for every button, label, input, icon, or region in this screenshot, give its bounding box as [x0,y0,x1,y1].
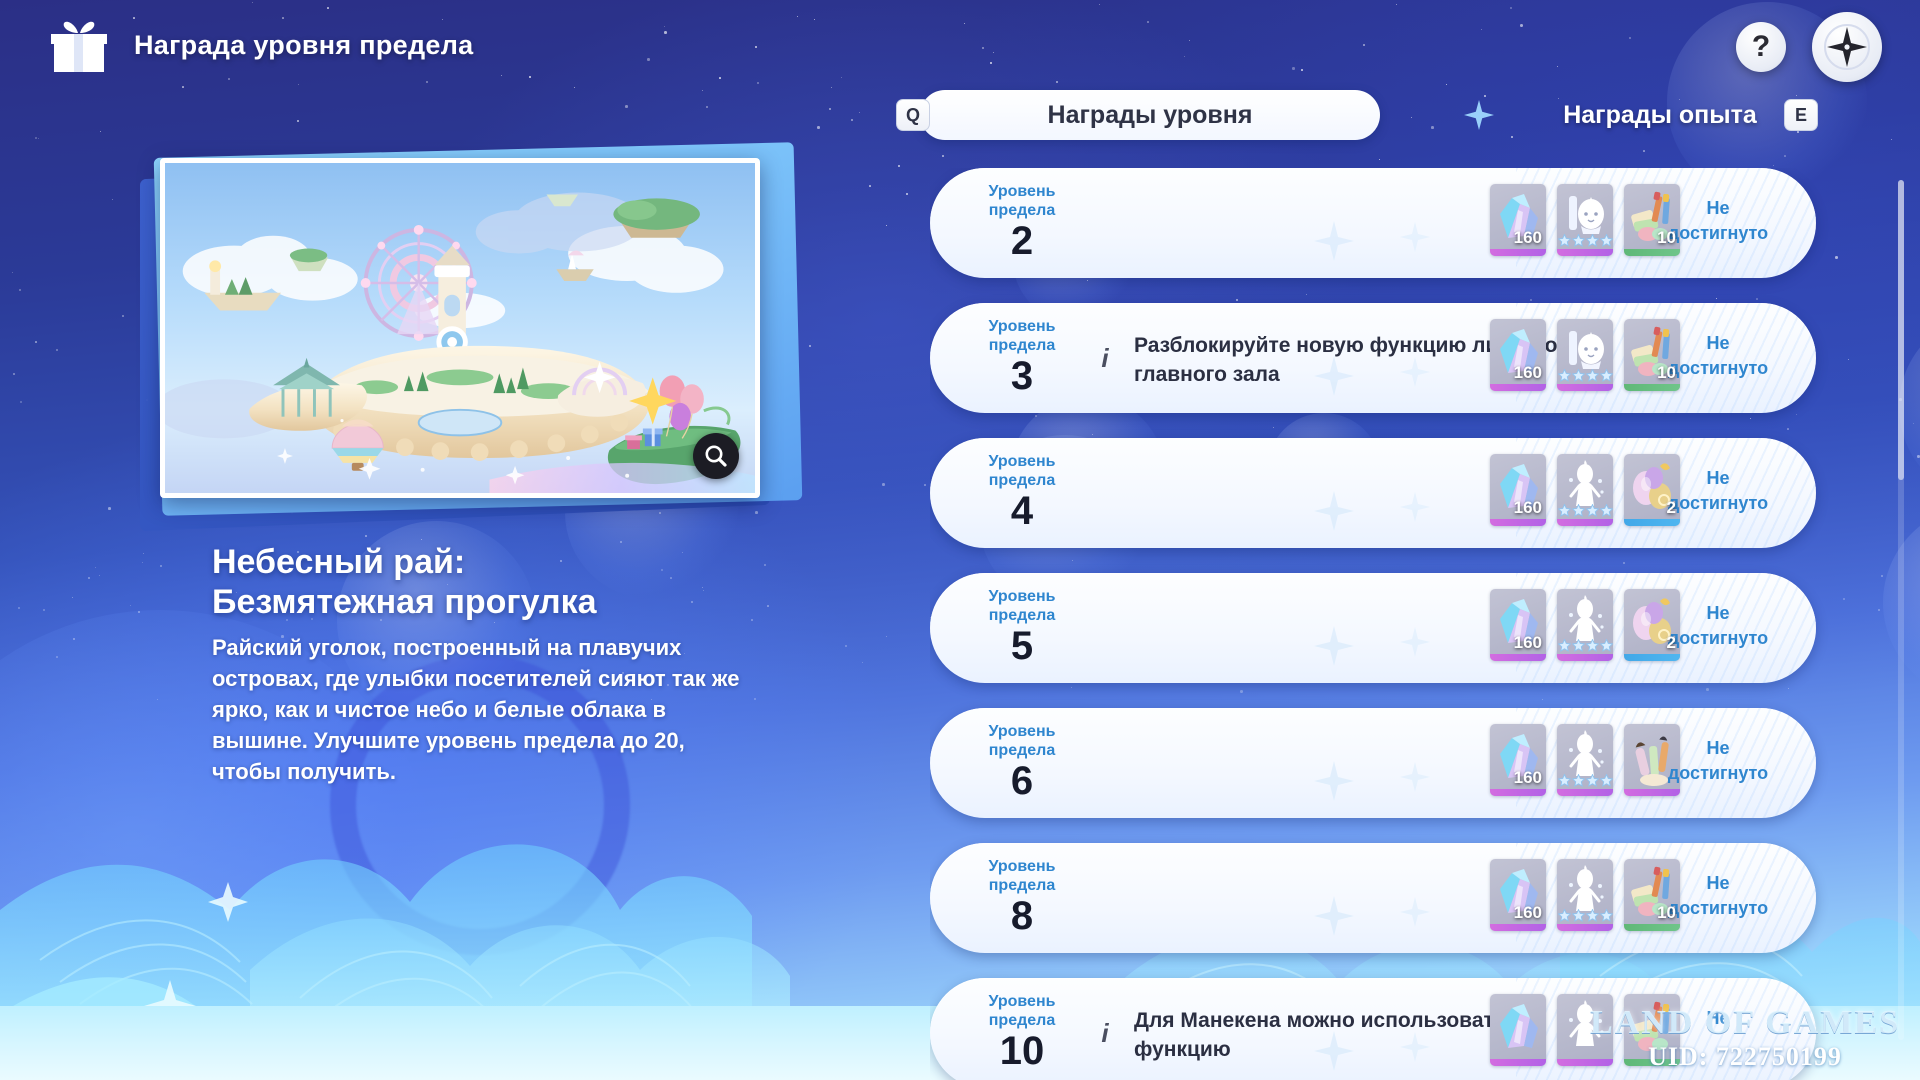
reward-item-rarity-bar [1624,519,1680,526]
preview-card-group [150,148,830,548]
reward-item-rarity-bar [1490,789,1546,796]
reward-item-rarity-bar [1490,1059,1546,1066]
reward-item-rarity-bar [1624,654,1680,661]
reward-item-rarity-bar [1557,384,1613,391]
rarity-star-icon [1600,774,1613,787]
reward-item-art [1490,994,1546,1066]
reward-item-quantity: 160 [1514,633,1542,653]
table-row[interactable]: Уровеньпредела51602Недостигнуто [930,573,1816,683]
reward-item[interactable]: 160 [1490,859,1546,931]
reward-item[interactable] [1557,724,1613,796]
table-row[interactable]: Уровеньпредела216010Недостигнуто [930,168,1816,278]
level-caption: Уровеньпредела [968,722,1076,760]
level-sparkle-decoration [1308,210,1438,264]
level-caption: Уровеньпредела [968,857,1076,895]
key-hint-q: Q [896,99,930,131]
item-rarity-stars [1557,771,1613,789]
preview-image-card[interactable] [160,158,760,498]
reward-item[interactable]: 160 [1490,589,1546,661]
reward-description-block: Небесный рай: Безмятежная прогулка Райск… [212,542,752,787]
reward-item[interactable] [1557,184,1613,256]
level-block: Уровеньпредела6 [968,722,1076,803]
table-row[interactable]: Уровеньпредела6160Недостигнуто [930,708,1816,818]
level-number: 2 [968,219,1076,263]
tab-level-rewards[interactable]: Награды уровня [920,90,1380,140]
reward-item[interactable] [1557,319,1613,391]
rarity-star-icon [1558,909,1571,922]
reward-item-rarity-bar [1557,924,1613,931]
tab-exp-rewards-label: Награды опыта [1563,101,1757,130]
level-caption: Уровеньпредела [968,182,1076,220]
rarity-star-icon [1558,504,1571,517]
help-button[interactable]: ? [1736,22,1786,72]
reward-item[interactable] [1490,994,1546,1066]
reward-item-quantity: 160 [1514,363,1542,383]
level-number: 4 [968,489,1076,533]
reward-item-rarity-bar [1624,789,1680,796]
level-number: 6 [968,759,1076,803]
tab-bar: Награды уровня Q Награды опыта E [900,90,1910,144]
level-caption: Уровеньпредела [968,992,1076,1030]
reward-items: 16010 [1490,184,1680,256]
close-button[interactable] [1812,12,1882,82]
reward-items: 16010 [1490,319,1680,391]
reward-title-line1: Небесный рай: [212,543,465,581]
level-block: Уровеньпредела10 [968,992,1076,1073]
reward-items: 160 [1490,724,1680,796]
reward-item[interactable] [1557,589,1613,661]
reward-title-line2: Безмятежная прогулка [212,583,597,621]
reward-item-rarity-bar [1624,924,1680,931]
reward-item-rarity-bar [1490,249,1546,256]
list-scrollbar-track[interactable] [1898,180,1904,1040]
level-block: Уровеньпредела8 [968,857,1076,938]
rarity-star-icon [1558,369,1571,382]
reward-description-text: Райский уголок, построенный на плавучих … [212,632,752,787]
reward-item[interactable]: 160 [1490,724,1546,796]
item-rarity-stars [1557,636,1613,654]
rarity-star-icon [1586,774,1599,787]
rarity-star-icon [1586,639,1599,652]
rarity-star-icon [1586,909,1599,922]
item-rarity-stars [1557,231,1613,249]
level-sparkle-decoration [1308,885,1438,939]
rarity-star-icon [1572,909,1585,922]
info-icon[interactable]: i [1090,1014,1120,1052]
reward-item-quantity: 10 [1657,363,1676,383]
zoom-preview-button[interactable] [693,433,739,479]
list-scrollbar-thumb[interactable] [1898,180,1904,480]
reward-item-rarity-bar [1490,924,1546,931]
status-badge: Недостигнуто [1654,736,1782,786]
level-block: Уровеньпредела4 [968,452,1076,533]
table-row[interactable]: Уровеньпредела3iРазблокируйте новую функ… [930,303,1816,413]
level-caption: Уровеньпредела [968,587,1076,625]
reward-item[interactable]: 160 [1490,319,1546,391]
reward-item[interactable]: 160 [1490,454,1546,526]
reward-item[interactable] [1557,454,1613,526]
reward-items: 16010 [1490,859,1680,931]
rarity-star-icon [1600,639,1613,652]
rarity-star-icon [1572,639,1585,652]
rarity-star-icon [1600,234,1613,247]
reward-item-rarity-bar [1624,384,1680,391]
level-caption: Уровеньпредела [968,452,1076,490]
rarity-star-icon [1600,504,1613,517]
watermark-title: LAND OF GAMES [1590,1004,1900,1042]
tab-level-rewards-label: Награды уровня [1048,101,1253,130]
reward-item[interactable] [1557,859,1613,931]
level-block: Уровеньпредела5 [968,587,1076,668]
rarity-star-icon [1572,504,1585,517]
crystal-icon [1490,994,1546,1066]
reward-item-rarity-bar [1490,384,1546,391]
rarity-star-icon [1600,909,1613,922]
rarity-star-icon [1586,369,1599,382]
rarity-star-icon [1586,234,1599,247]
reward-item[interactable]: 160 [1490,184,1546,256]
rarity-star-icon [1572,369,1585,382]
reward-item-rarity-bar [1490,654,1546,661]
rarity-star-icon [1558,234,1571,247]
level-block: Уровеньпредела2 [968,182,1076,263]
rarity-star-icon [1600,369,1613,382]
question-mark-icon: ? [1752,30,1770,64]
reward-item-rarity-bar [1490,519,1546,526]
level-caption: Уровеньпредела [968,317,1076,355]
level-sparkle-decoration [1308,615,1438,669]
magnifier-icon [703,443,729,469]
reward-item-rarity-bar [1624,249,1680,256]
level-number: 5 [968,624,1076,668]
rarity-star-icon [1558,774,1571,787]
table-row[interactable]: Уровеньпредела816010Недостигнуто [930,843,1816,953]
item-rarity-stars [1557,366,1613,384]
level-sparkle-decoration [1308,750,1438,804]
level-block: Уровеньпредела3 [968,317,1076,398]
sky-paradise-artwork [165,163,755,497]
level-number: 10 [968,1029,1076,1073]
reward-item-quantity: 160 [1514,498,1542,518]
reward-item-rarity-bar [1557,249,1613,256]
reward-item-rarity-bar [1557,789,1613,796]
rarity-star-icon [1572,774,1585,787]
info-icon[interactable]: i [1090,339,1120,377]
item-rarity-stars [1557,906,1613,924]
reward-item-quantity: 10 [1657,228,1676,248]
rarity-star-icon [1558,639,1571,652]
gift-icon [48,20,110,76]
reward-item-quantity: 2 [1667,498,1676,518]
reward-item-quantity: 2 [1667,633,1676,653]
reward-items: 1602 [1490,454,1680,526]
item-rarity-stars [1557,501,1613,519]
reward-item-rarity-bar [1557,519,1613,526]
level-number: 3 [968,354,1076,398]
page-title: Награда уровня предела [134,30,473,61]
reward-rows-list[interactable]: Уровеньпредела216010НедостигнутоУровеньп… [930,168,1850,1080]
window-header: Награда уровня предела ? [0,0,1920,96]
watermark-uid: UID: 722750199 [1590,1042,1900,1072]
reward-item-rarity-bar [1557,654,1613,661]
reward-item-quantity: 10 [1657,903,1676,923]
watermark: LAND OF GAMES UID: 722750199 [1590,1004,1900,1072]
reward-items: 1602 [1490,589,1680,661]
rarity-star-icon [1572,234,1585,247]
rarity-star-icon [1586,504,1599,517]
table-row[interactable]: Уровеньпредела41602Недостигнуто [930,438,1816,548]
key-hint-e: E [1784,99,1818,131]
four-point-star-close-icon [1823,23,1871,71]
level-sparkle-decoration [1308,480,1438,534]
reward-item-quantity: 160 [1514,903,1542,923]
reward-item-quantity: 160 [1514,768,1542,788]
reward-item-quantity: 160 [1514,228,1542,248]
level-number: 8 [968,894,1076,938]
